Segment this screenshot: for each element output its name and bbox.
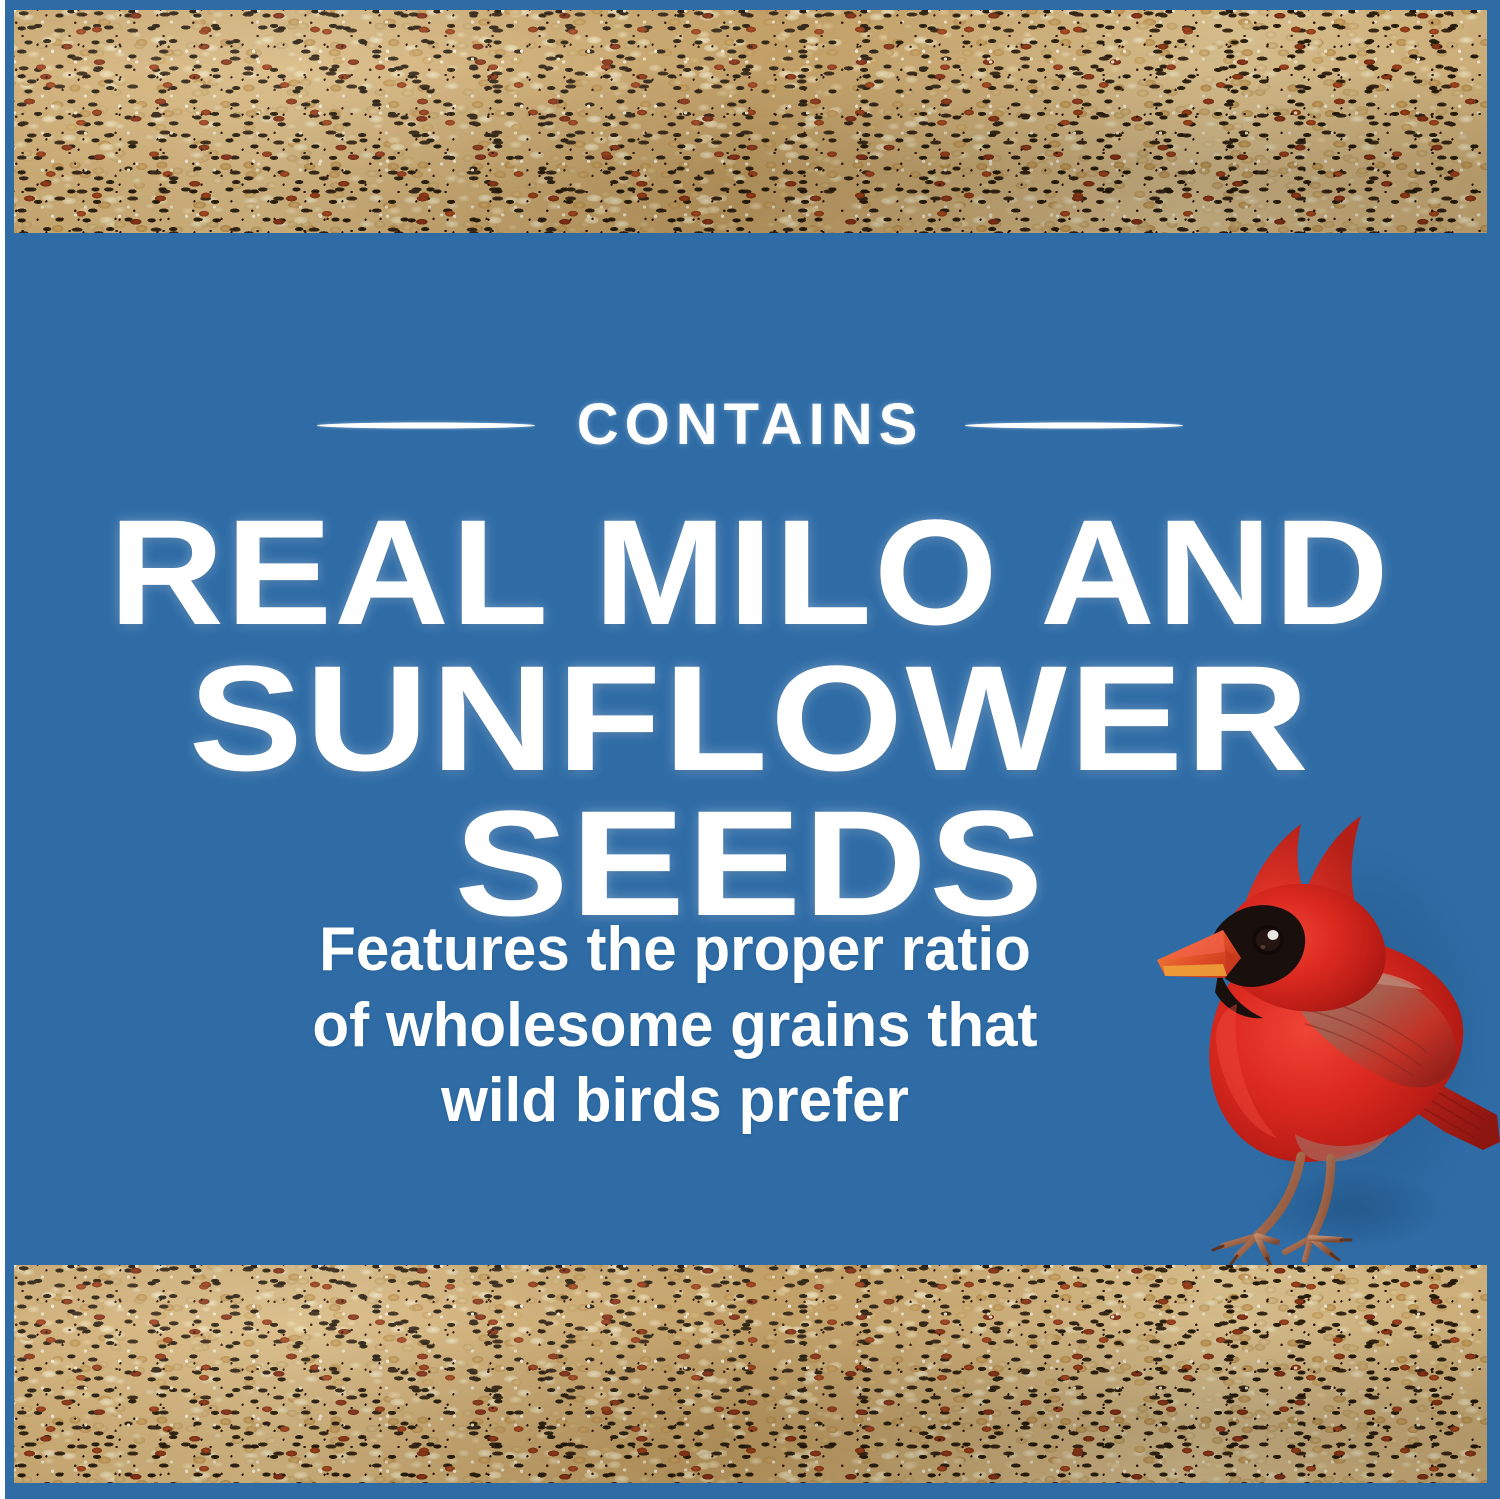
- product-feature-panel: CONTAINS REAL MILO AND SUNFLOWER SEEDS F…: [0, 0, 1500, 1499]
- headline-line-1: REAL MILO AND: [0, 500, 1500, 646]
- cardinal-bird-image: [1145, 790, 1500, 1268]
- divider-rule-left-icon: [317, 422, 535, 428]
- body-copy: Features the proper ratio of wholesome g…: [170, 912, 1180, 1139]
- seed-mix-band-bottom: [14, 1265, 1487, 1483]
- body-copy-line-2: of wholesome grains that: [185, 988, 1165, 1064]
- seed-shading-layer: [14, 1265, 1487, 1483]
- seed-mix-band-top: [14, 10, 1487, 233]
- contains-eyebrow-row: CONTAINS: [0, 396, 1500, 454]
- seed-shading-layer: [14, 10, 1487, 233]
- body-copy-line-3: wild birds prefer: [185, 1063, 1165, 1139]
- divider-rule-right-icon: [965, 422, 1183, 428]
- body-copy-line-1: Features the proper ratio: [185, 912, 1165, 988]
- bird-eye: [1252, 925, 1284, 955]
- bird-feet: [1223, 1236, 1341, 1260]
- contains-label: CONTAINS: [577, 396, 924, 454]
- seed-texture: [14, 1265, 1487, 1483]
- seed-texture: [14, 10, 1487, 233]
